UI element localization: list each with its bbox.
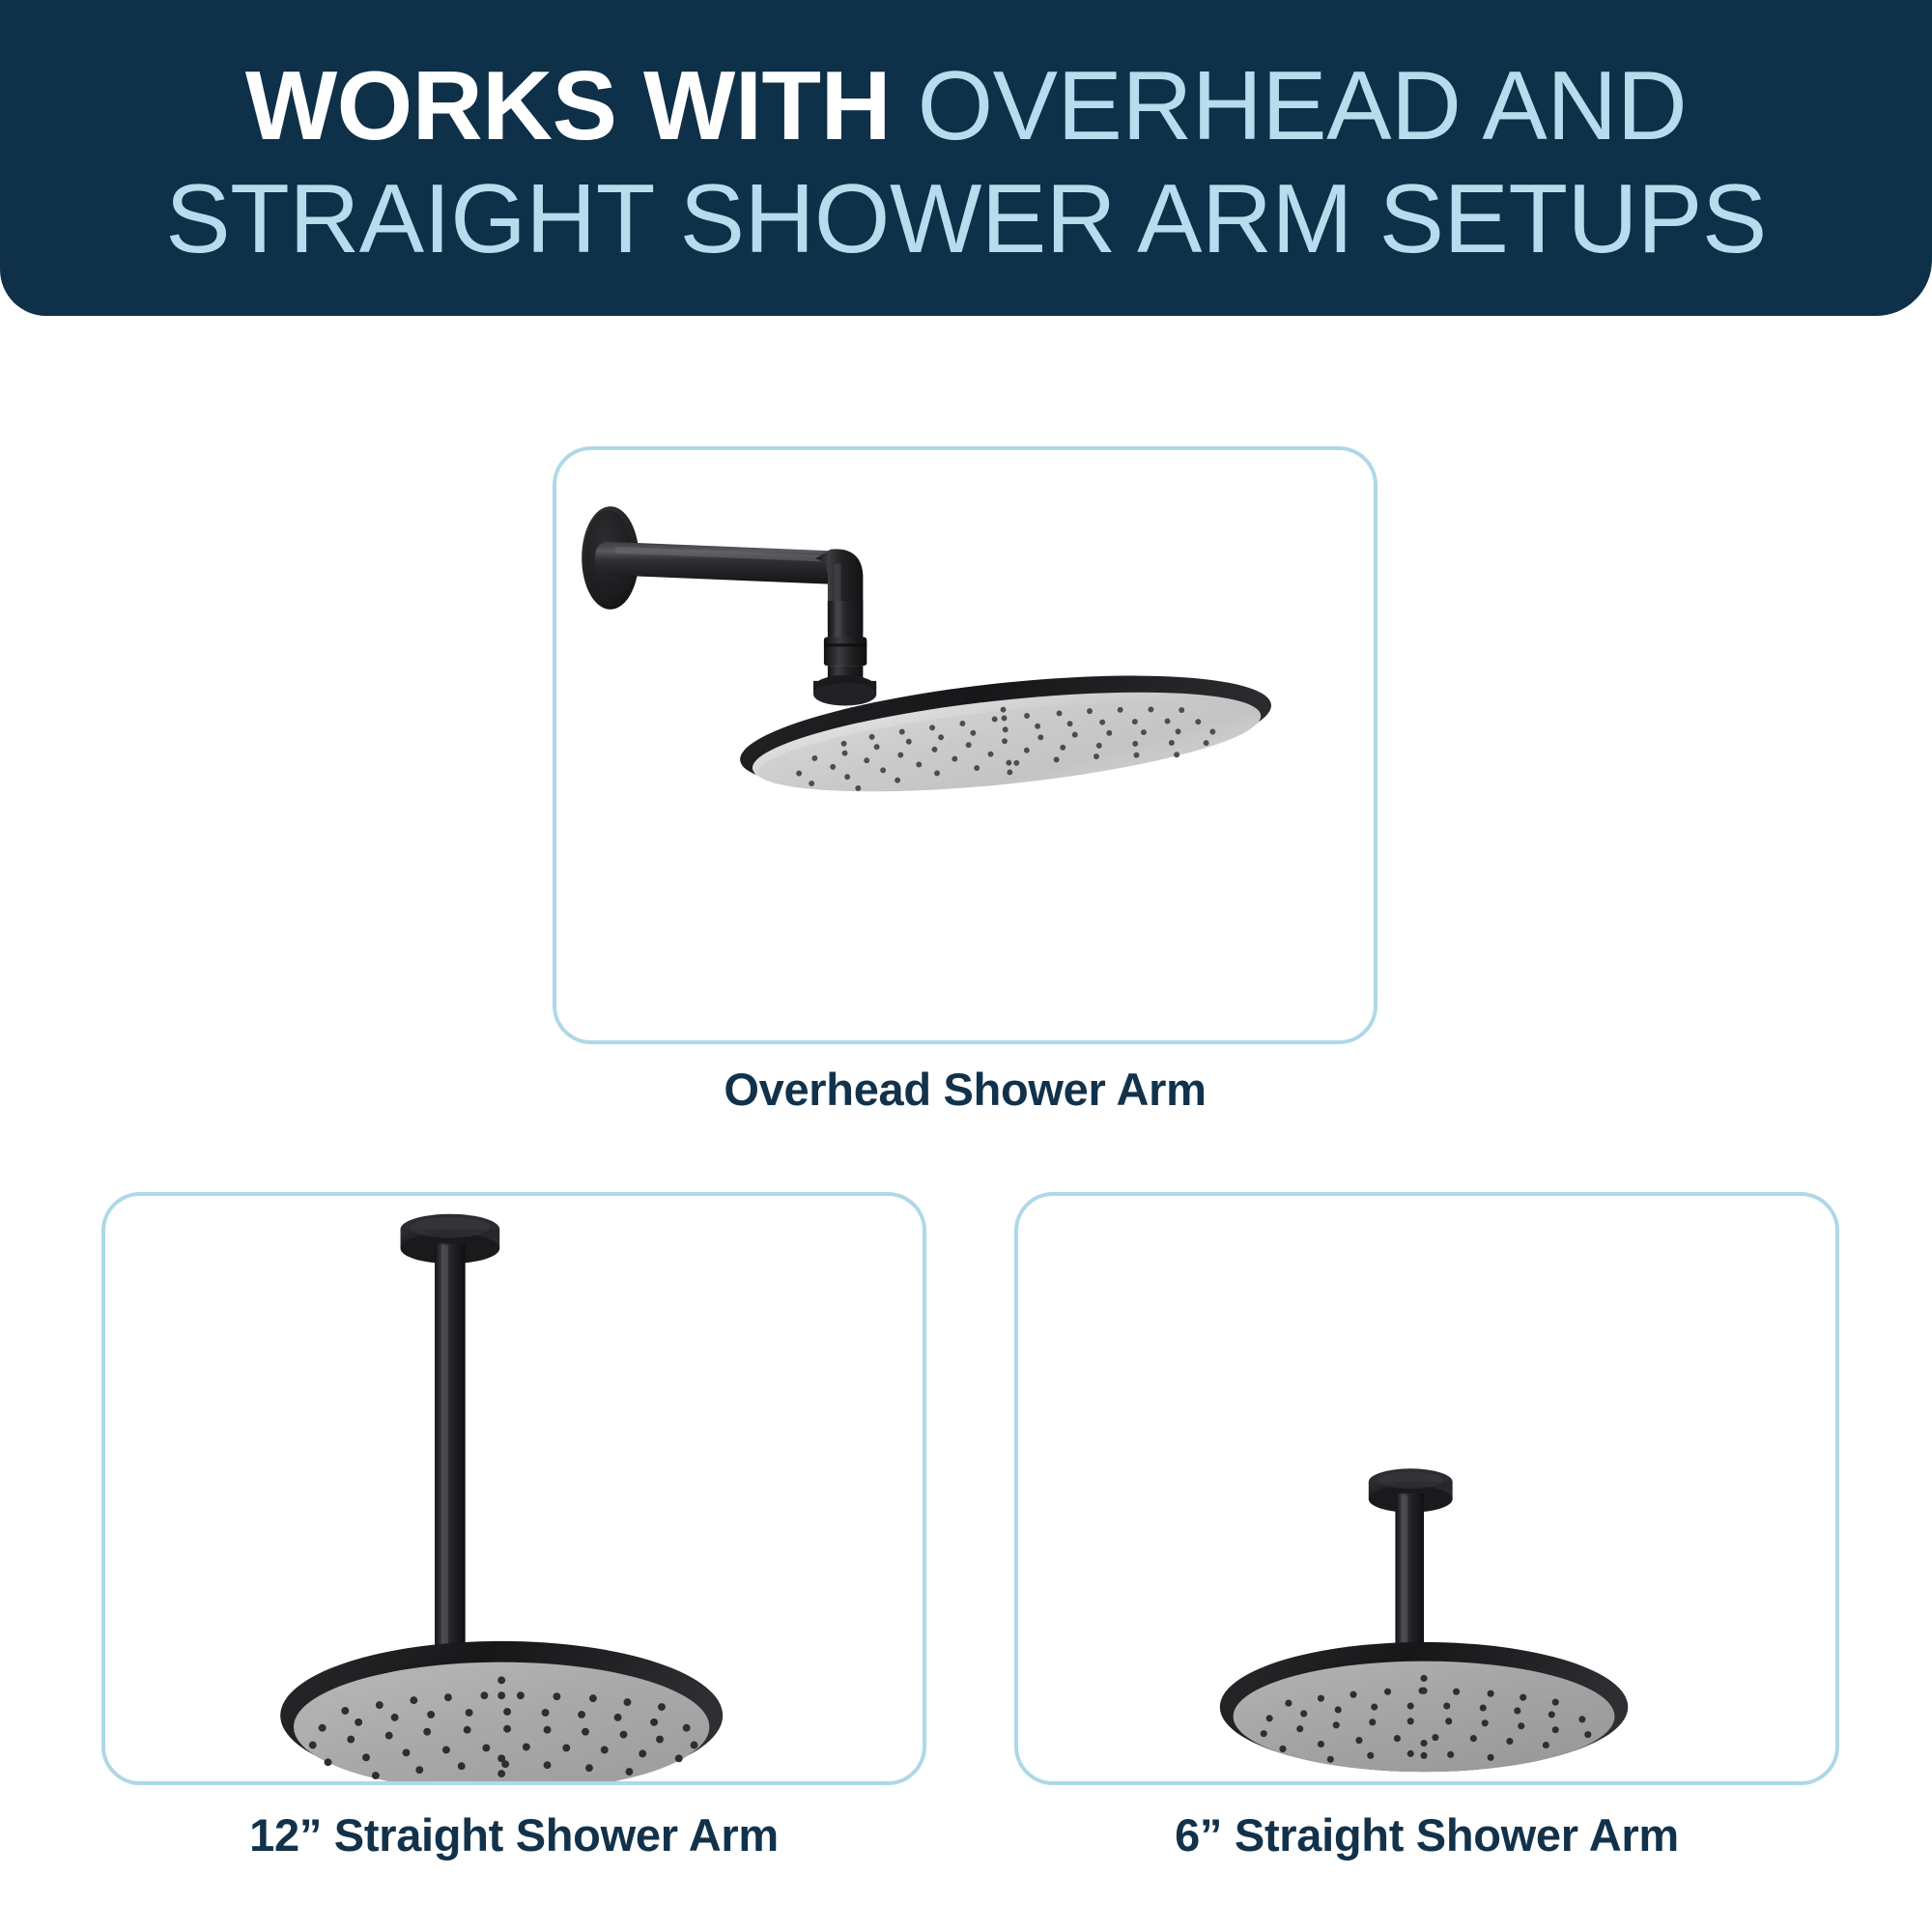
caption-12in-straight-shower-arm: 12” Straight Shower Arm [101, 1808, 926, 1861]
title-highlight: WORKS WITH [245, 52, 891, 160]
drop-tube [435, 1243, 466, 1710]
caption-overhead-shower-arm: Overhead Shower Arm [553, 1063, 1378, 1116]
card-overhead-shower-arm [553, 446, 1378, 1044]
page-title: WORKS WITH OVERHEAD AND STRAIGHT SHOWER … [71, 50, 1861, 276]
card-12in-straight-shower-arm [101, 1192, 926, 1785]
shower-head [1220, 1642, 1628, 1772]
straight-12in-shower-arm-illustration [105, 1196, 923, 1781]
shower-head [280, 1641, 723, 1781]
straight-6in-shower-arm-illustration [1018, 1196, 1835, 1781]
overhead-shower-arm-illustration [556, 450, 1374, 1040]
caption-6in-straight-shower-arm: 6” Straight Shower Arm [1014, 1808, 1839, 1861]
header-banner: WORKS WITH OVERHEAD AND STRAIGHT SHOWER … [0, 0, 1932, 316]
shower-head [735, 655, 1277, 811]
card-6in-straight-shower-arm [1014, 1192, 1839, 1785]
shower-head-swivel [813, 675, 876, 706]
